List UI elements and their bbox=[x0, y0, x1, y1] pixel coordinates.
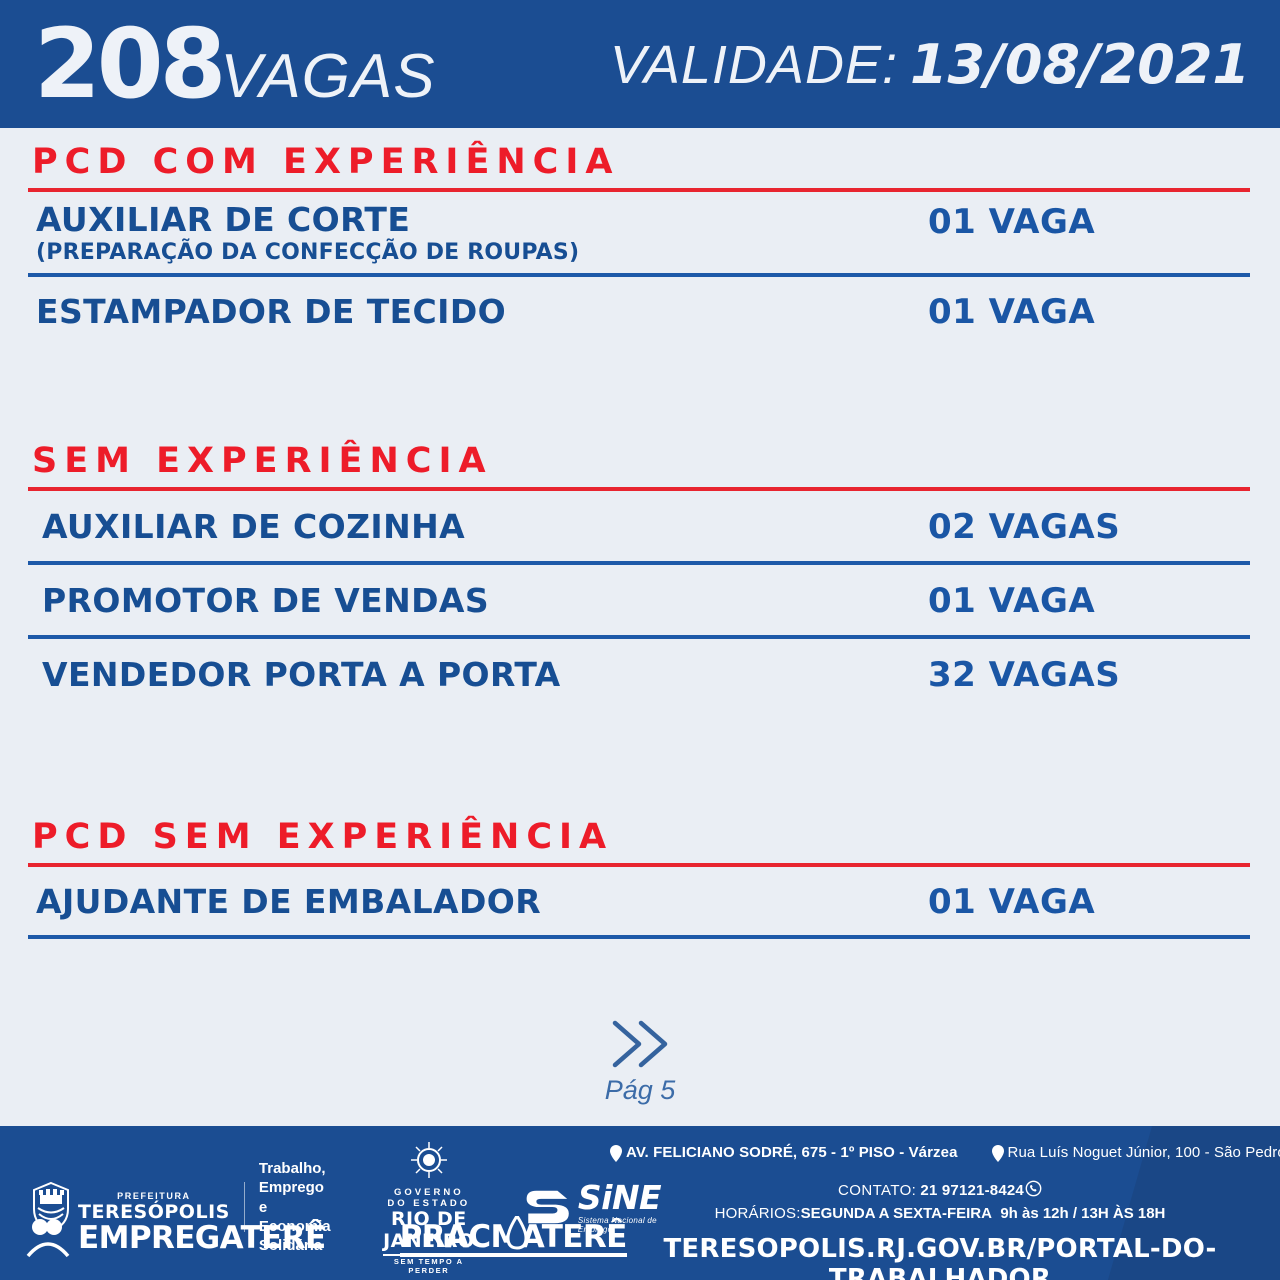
governo-line1: GOVERNO DO ESTADO bbox=[383, 1187, 475, 1209]
contact-number: 21 97121-8424 bbox=[920, 1182, 1024, 1199]
row-divider bbox=[28, 935, 1250, 939]
footer-logos-bottom: EMPREGATERÊ PRACMATERÊ bbox=[26, 1218, 627, 1258]
vacancy-poster: 208 VAGAS VALIDADE: 13/08/2021 PCD COM E… bbox=[0, 0, 1280, 1280]
vacancy-row-text: AUXILIAR DE CORTE (PREPARAÇÃO DA CONFECÇ… bbox=[36, 202, 920, 265]
vacancy-title: AUXILIAR DE COZINHA bbox=[42, 509, 920, 546]
location-pin-icon bbox=[610, 1145, 622, 1162]
page-number-label: Pág 5 bbox=[605, 1075, 676, 1106]
vacancy-title: VENDEDOR PORTA A PORTA bbox=[42, 657, 920, 694]
location-pin-icon bbox=[992, 1145, 1004, 1162]
empregatere-name: EMPREGATERÊ bbox=[78, 1220, 326, 1256]
section-sem-experiencia: SEM EXPERIÊNCIA AUXILIAR DE COZINHA 02 V… bbox=[0, 441, 1280, 709]
vacancy-title: ESTAMPADOR DE TECIDO bbox=[36, 294, 920, 331]
address-2-text: Rua Luís Noguet Júnior, 100 - São Pedro bbox=[1008, 1144, 1280, 1161]
vacancy-title: AJUDANTE DE EMBALADOR bbox=[36, 884, 920, 921]
poster-header: 208 VAGAS VALIDADE: 13/08/2021 bbox=[0, 0, 1280, 128]
vacancy-sections: PCD COM EXPERIÊNCIA AUXILIAR DE CORTE (P… bbox=[0, 128, 1280, 939]
vacancy-count: 01 VAGA bbox=[920, 581, 1250, 621]
vacancy-count: 01 VAGA bbox=[920, 292, 1250, 332]
vacancy-row-text: AUXILIAR DE COZINHA bbox=[42, 509, 920, 546]
prefeitura-label: PREFEITURA bbox=[78, 1191, 230, 1201]
vacancy-count: 01 VAGA bbox=[920, 882, 1250, 922]
vacancy-row: PROMOTOR DE VENDAS 01 VAGA bbox=[28, 565, 1250, 635]
contact-label: CONTATO: bbox=[838, 1182, 916, 1199]
address-item: AV. FELICIANO SODRÉ, 675 - 1º PISO - Vár… bbox=[610, 1144, 958, 1162]
empregatere-logo-icon bbox=[26, 1218, 70, 1258]
vacancy-title: PROMOTOR DE VENDAS bbox=[42, 583, 920, 620]
validity-label: VALIDADE: bbox=[610, 34, 898, 96]
governo-line3: SEM TEMPO A PERDER bbox=[383, 1257, 475, 1275]
section-title: PCD SEM EXPERIÊNCIA bbox=[28, 817, 1250, 857]
vacancy-row: AUXILIAR DE COZINHA 02 VAGAS bbox=[28, 491, 1250, 561]
vacancy-total: 208 VAGAS bbox=[34, 16, 436, 112]
vacancy-row: ESTAMPADOR DE TECIDO 01 VAGA bbox=[28, 277, 1250, 345]
vacancy-count: 32 VAGAS bbox=[920, 655, 1250, 695]
hours-times: 9h às 12h / 13H ÀS 18H bbox=[1000, 1205, 1165, 1222]
vacancy-row: AUXILIAR DE CORTE (PREPARAÇÃO DA CONFECÇ… bbox=[28, 192, 1250, 273]
hours-label: HORÁRIOS: bbox=[715, 1205, 801, 1222]
address-item: Rua Luís Noguet Júnior, 100 - São Pedro bbox=[992, 1144, 1280, 1162]
section-title: SEM EXPERIÊNCIA bbox=[28, 441, 1250, 481]
pracmatere-logo: PRACMATERÊ bbox=[400, 1219, 627, 1257]
vacancy-row-text: PROMOTOR DE VENDAS bbox=[42, 583, 920, 620]
contact-line: CONTATO: 21 97121-8424 bbox=[600, 1180, 1280, 1199]
section-pcd-com-experiencia: PCD COM EXPERIÊNCIA AUXILIAR DE CORTE (P… bbox=[0, 128, 1280, 345]
page-indicator: Pág 5 bbox=[0, 1015, 1280, 1106]
website-url[interactable]: TERESOPOLIS.RJ.GOV.BR/PORTAL-DO-TRABALHA… bbox=[600, 1234, 1280, 1280]
vacancy-subtitle: (PREPARAÇÃO DA CONFECÇÃO DE ROUPAS) bbox=[36, 240, 920, 265]
hours-line: HORÁRIOS:SEGUNDA A SEXTA-FEIRA 9h às 12h… bbox=[600, 1205, 1280, 1222]
section-spacer bbox=[0, 709, 1280, 817]
footer-logos: PREFEITURA TERESÓPOLIS Trabalho, Emprego… bbox=[0, 1126, 600, 1280]
section-spacer bbox=[0, 345, 1280, 441]
vacancy-title: AUXILIAR DE CORTE bbox=[36, 202, 920, 239]
rio-de-janeiro-crest-icon bbox=[409, 1140, 449, 1180]
vacancy-row: VENDEDOR PORTA A PORTA 32 VAGAS bbox=[28, 639, 1250, 709]
whatsapp-icon[interactable] bbox=[1025, 1180, 1042, 1197]
vacancy-row-text: AJUDANTE DE EMBALADOR bbox=[36, 884, 920, 921]
vacancy-count-number: 208 bbox=[34, 16, 222, 112]
footer-contact: AV. FELICIANO SODRÉ, 675 - 1º PISO - Vár… bbox=[600, 1126, 1280, 1280]
pracmatere-name-a: PRAC bbox=[400, 1219, 491, 1255]
vacancy-row-text: VENDEDOR PORTA A PORTA bbox=[42, 657, 920, 694]
empregatere-logo: EMPREGATERÊ bbox=[26, 1218, 326, 1258]
double-chevron-right-icon bbox=[605, 1015, 675, 1073]
addresses: AV. FELICIANO SODRÉ, 675 - 1º PISO - Vár… bbox=[610, 1144, 1270, 1162]
address-1-text: AV. FELICIANO SODRÉ, 675 - 1º PISO - Vár… bbox=[626, 1144, 958, 1161]
vacancy-count-label: VAGAS bbox=[220, 46, 435, 108]
vacancy-count: 01 VAGA bbox=[920, 202, 1250, 242]
hours-days: SEGUNDA A SEXTA-FEIRA bbox=[801, 1205, 992, 1222]
vacancy-row-text: ESTAMPADOR DE TECIDO bbox=[36, 294, 920, 331]
validity-block: VALIDADE: 13/08/2021 bbox=[610, 33, 1250, 96]
vacancy-count: 02 VAGAS bbox=[920, 507, 1250, 547]
water-drop-icon bbox=[506, 1216, 528, 1250]
poster-footer: PREFEITURA TERESÓPOLIS Trabalho, Emprego… bbox=[0, 1126, 1280, 1280]
section-pcd-sem-experiencia: PCD SEM EXPERIÊNCIA AJUDANTE DE EMBALADO… bbox=[0, 817, 1280, 939]
section-title: PCD COM EXPERIÊNCIA bbox=[28, 142, 1250, 182]
validity-date: 13/08/2021 bbox=[910, 33, 1250, 96]
vacancy-row: AJUDANTE DE EMBALADOR 01 VAGA bbox=[28, 867, 1250, 935]
